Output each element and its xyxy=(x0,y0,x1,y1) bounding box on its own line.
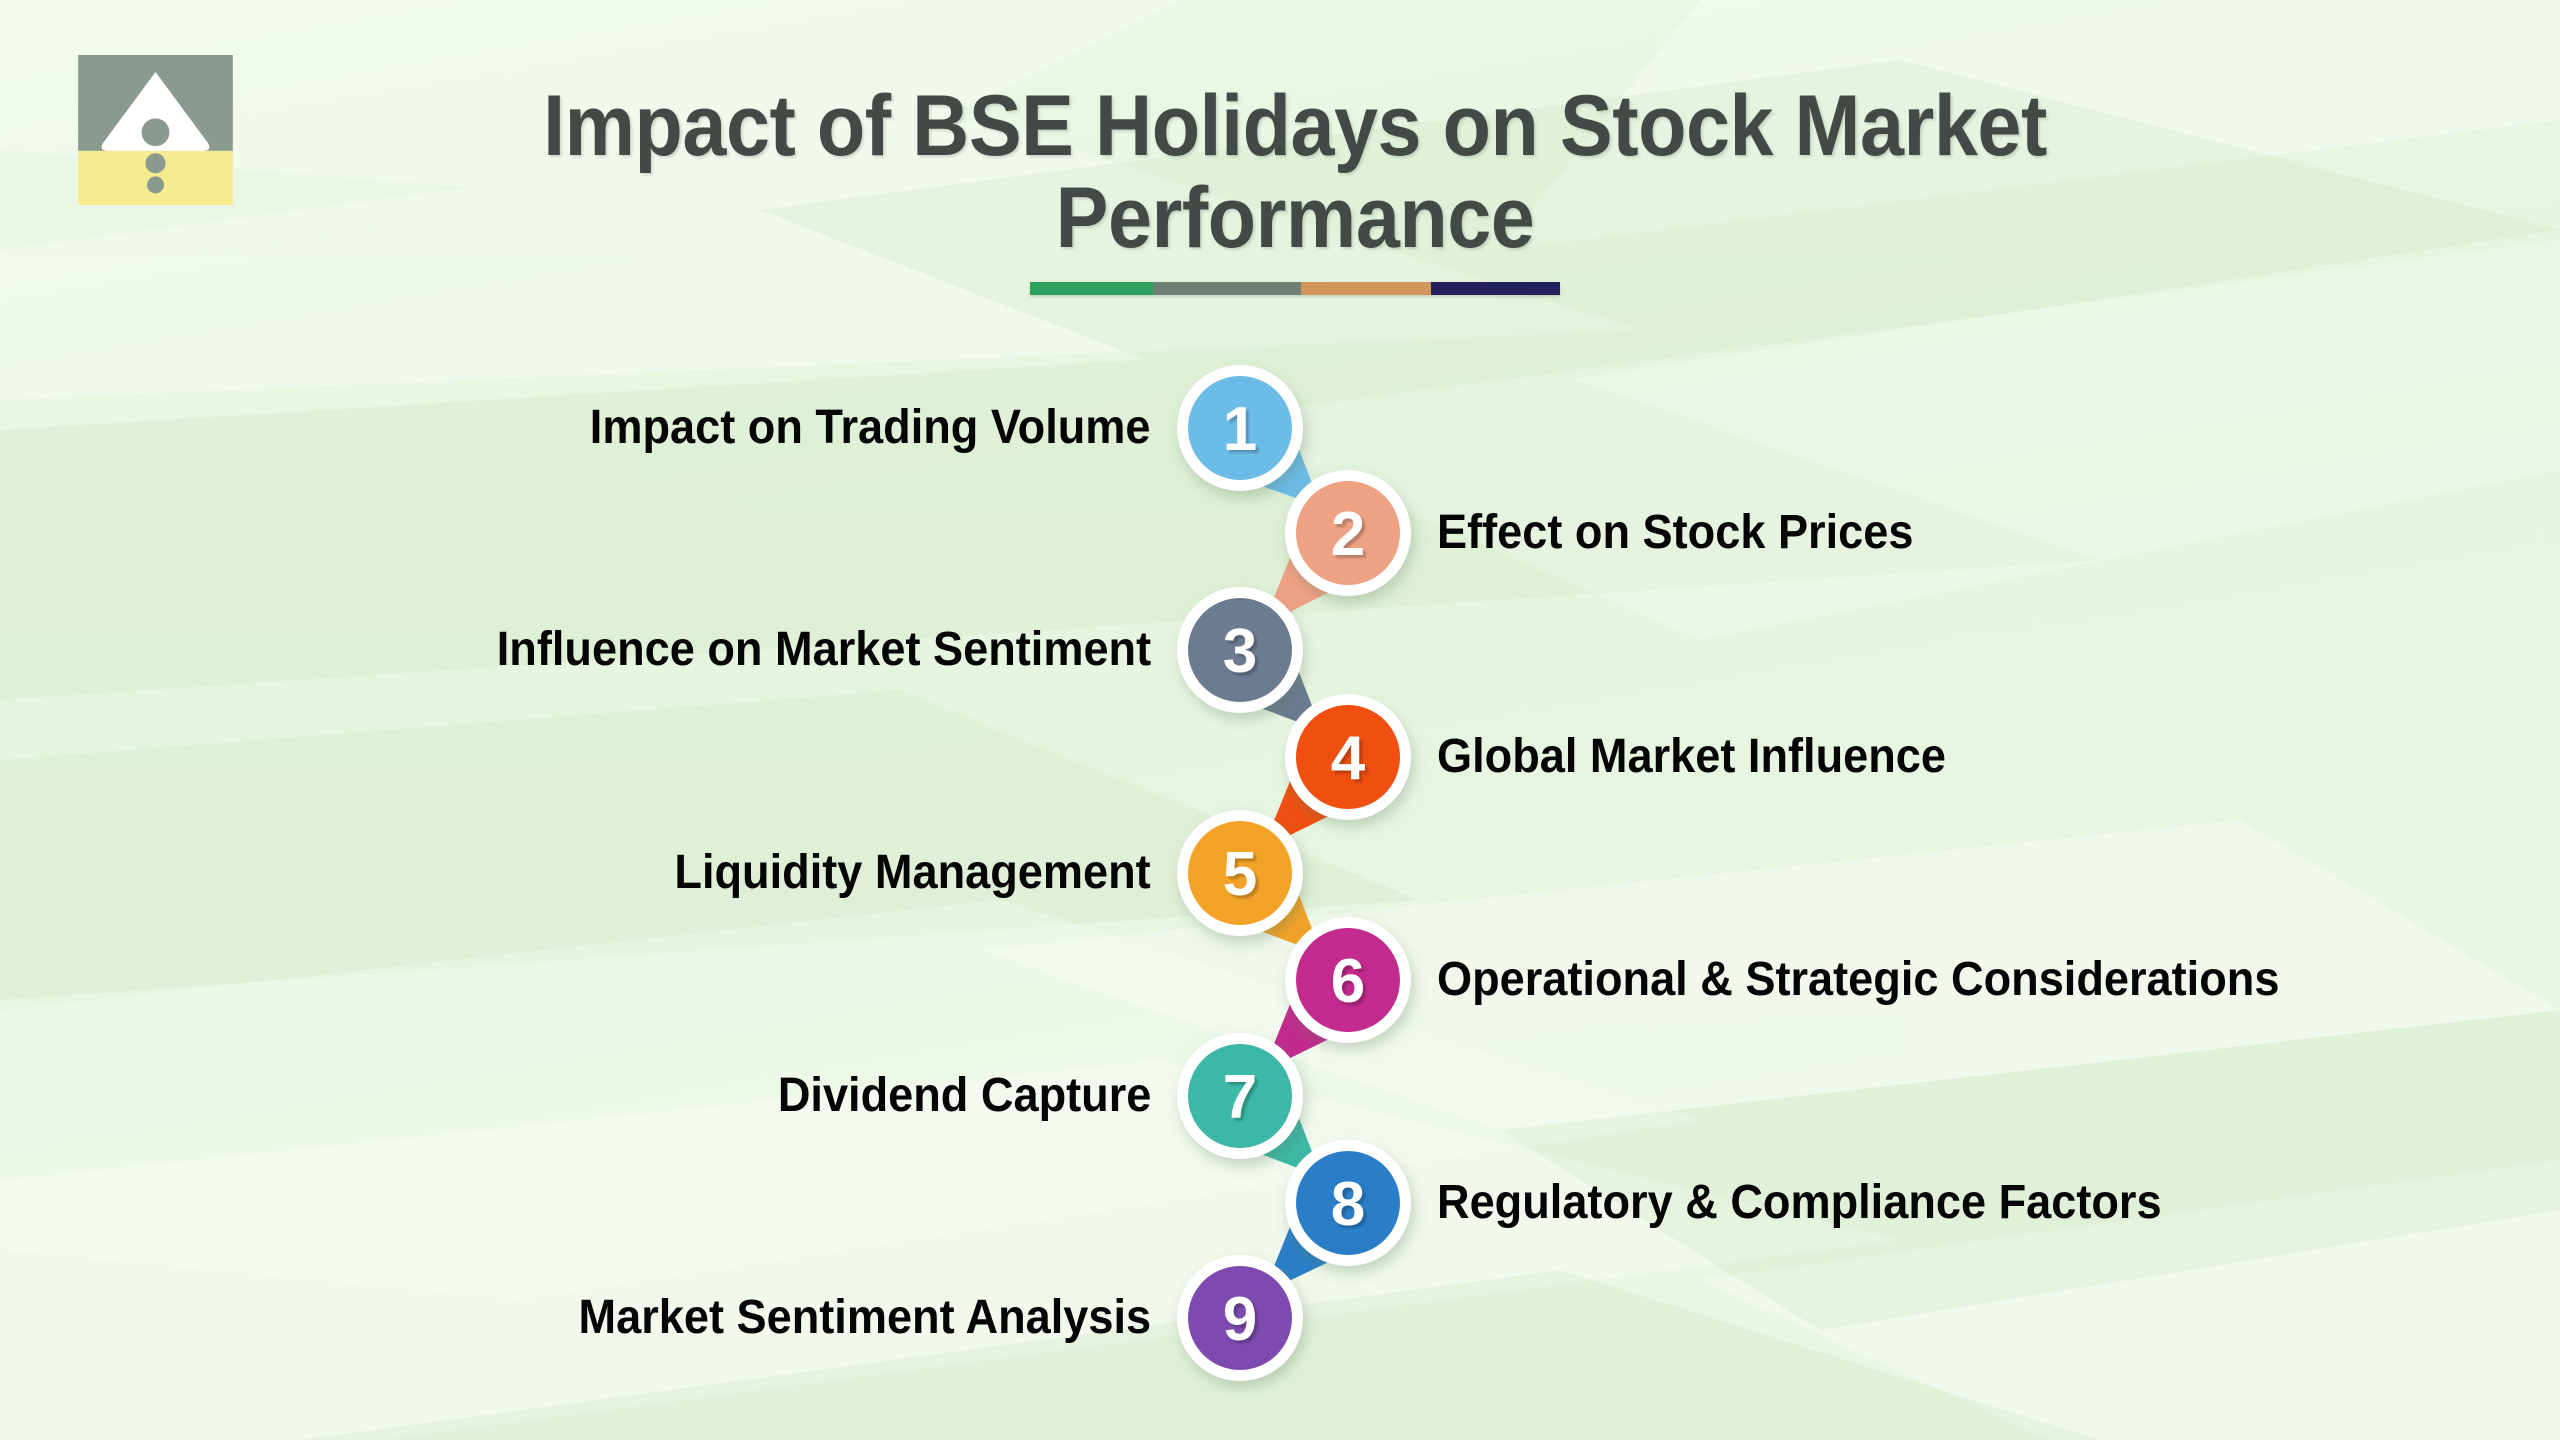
node-fill-2 xyxy=(1296,481,1400,585)
node-fill-8 xyxy=(1296,1151,1400,1255)
node-circle-2[interactable] xyxy=(1285,470,1411,596)
node-fill-4 xyxy=(1296,705,1400,809)
node-fill-6 xyxy=(1296,928,1400,1032)
node-label-7: Dividend Capture xyxy=(777,1072,1151,1120)
node-circle-9[interactable] xyxy=(1177,1255,1303,1381)
node-fill-5 xyxy=(1188,821,1292,925)
node-label-6: Operational & Strategic Considerations xyxy=(1437,956,2279,1004)
node-circle-8[interactable] xyxy=(1285,1140,1411,1266)
node-circle-6[interactable] xyxy=(1285,917,1411,1043)
node-label-4: Global Market Influence xyxy=(1437,733,1946,781)
node-label-9: Market Sentiment Analysis xyxy=(578,1294,1151,1342)
node-circle-3[interactable] xyxy=(1177,587,1303,713)
node-label-3: Influence on Market Sentiment xyxy=(497,626,1151,674)
node-label-5: Liquidity Management xyxy=(675,849,1151,897)
node-label-8: Regulatory & Compliance Factors xyxy=(1437,1179,2162,1227)
node-circle-5[interactable] xyxy=(1177,810,1303,936)
zigzag-chain xyxy=(0,0,2560,1440)
node-fill-3 xyxy=(1188,598,1292,702)
node-label-1: Impact on Trading Volume xyxy=(590,404,1151,452)
node-circle-7[interactable] xyxy=(1177,1033,1303,1159)
node-circle-1[interactable] xyxy=(1177,365,1303,491)
infographic-canvas: Impact of BSE Holidays on Stock Market P… xyxy=(0,0,2560,1440)
node-label-2: Effect on Stock Prices xyxy=(1437,509,1913,557)
node-circle-4[interactable] xyxy=(1285,694,1411,820)
node-fill-1 xyxy=(1188,376,1292,480)
node-fill-9 xyxy=(1188,1266,1292,1370)
node-fill-7 xyxy=(1188,1044,1292,1148)
node-layer xyxy=(1177,365,1411,1381)
